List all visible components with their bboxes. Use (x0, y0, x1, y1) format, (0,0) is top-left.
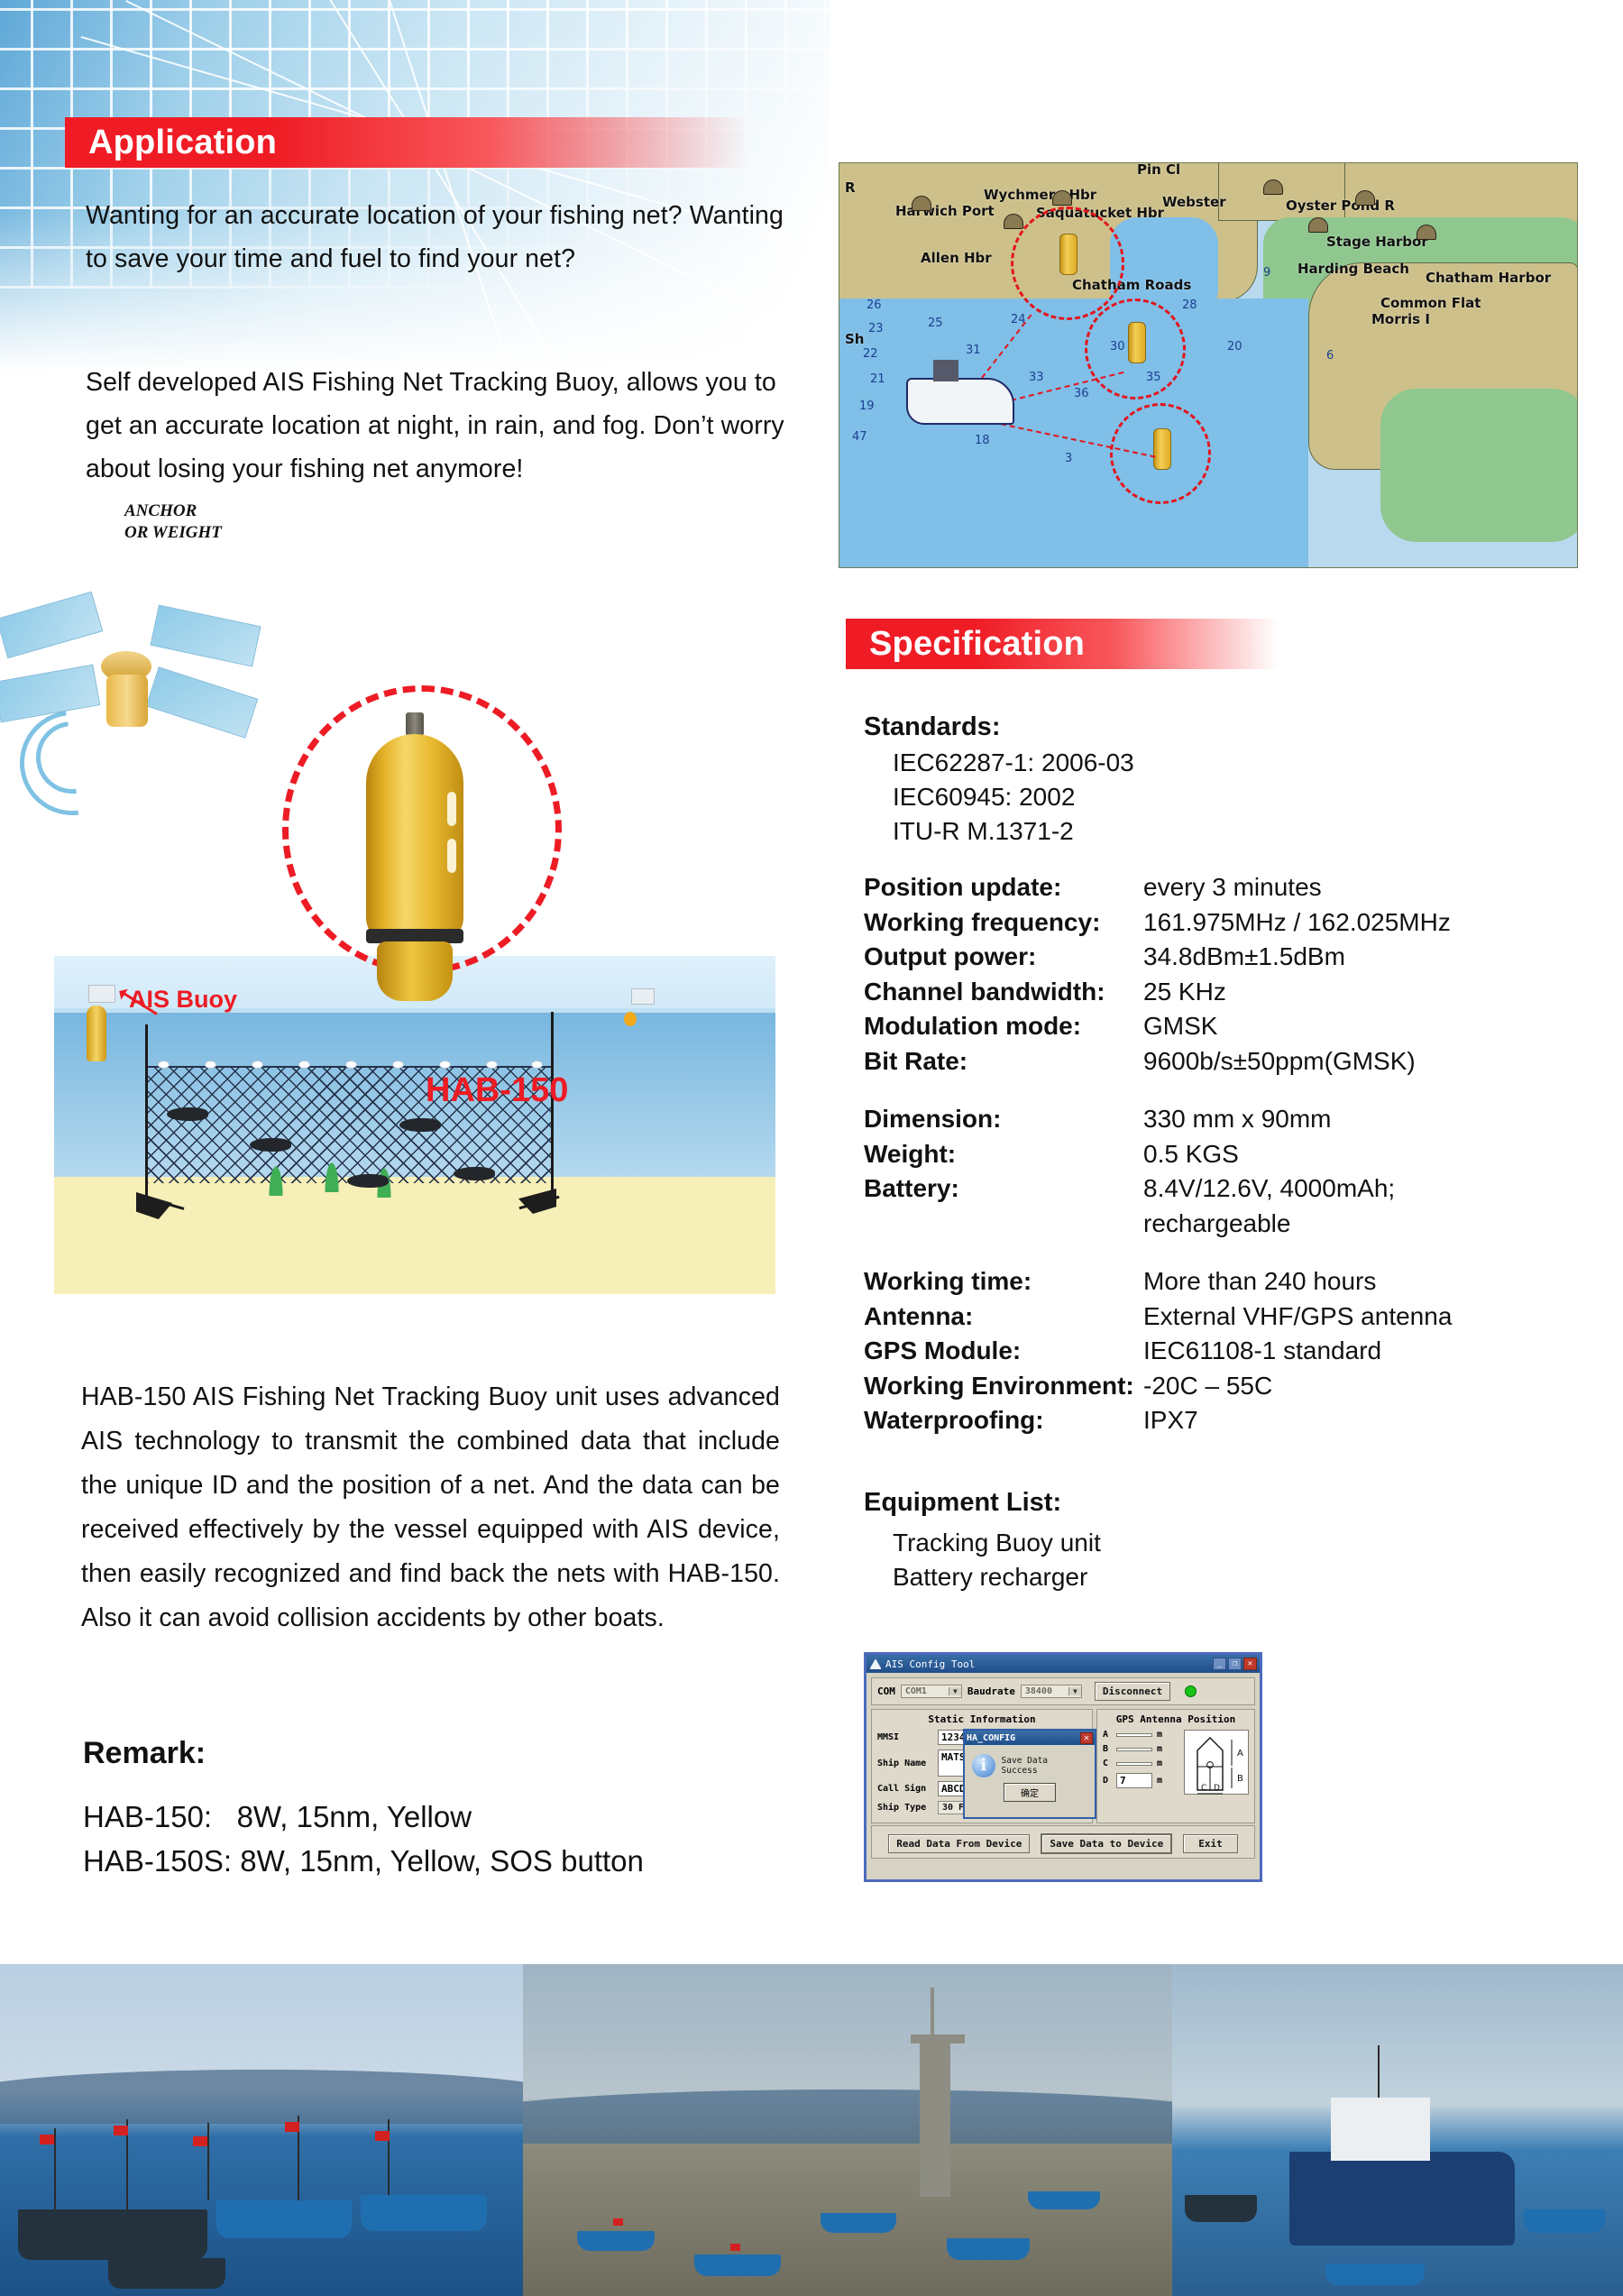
ais-config-tool-window: AIS Config Tool _ ❐ ✕ COM COM1 ▼ Baudrat… (864, 1652, 1262, 1882)
ship-type-label: Ship Type (877, 1803, 933, 1813)
chart-marina-icon (1052, 190, 1072, 206)
specification-heading-text: Specification (846, 625, 1085, 664)
photo-boat (577, 2231, 655, 2251)
close-button[interactable]: ✕ (1243, 1658, 1257, 1670)
antenna-row: A m (1103, 1730, 1178, 1740)
chart-marina-icon (1355, 190, 1375, 206)
spec-row: Battery:8.4V/12.6V, 4000mAh; (864, 1171, 1594, 1207)
save-success-dialog: HA_CONFIG ✕ i Save Data Success 确定 (963, 1729, 1096, 1819)
spec-row: Working Environment:-20C – 55C (864, 1369, 1594, 1404)
vessel-outline-icon: A B C D (1185, 1731, 1250, 1795)
action-button-bar: Read Data From Device Save Data to Devic… (871, 1825, 1255, 1859)
photo-mast (207, 2123, 209, 2200)
spec-key: Battery: (864, 1171, 1143, 1207)
photo-hills (0, 2070, 523, 2124)
spec-row: Weight:0.5 KGS (864, 1137, 1594, 1172)
window-title: AIS Config Tool (885, 1658, 1209, 1670)
net-float (298, 1061, 310, 1069)
chart-sounding: 22 (863, 347, 878, 361)
chart-sounding: 20 (1227, 340, 1242, 354)
chart-sounding: 28 (1182, 298, 1197, 312)
unit-label: m (1157, 1730, 1162, 1740)
baudrate-label: Baudrate (967, 1685, 1015, 1697)
spec-spacer (864, 1241, 1594, 1264)
unit-label: m (1157, 1776, 1162, 1786)
seaweed (264, 1145, 288, 1196)
spec-key: Waterproofing: (864, 1403, 1143, 1438)
buoy-shell (366, 734, 463, 941)
photo-boat (1524, 2209, 1605, 2233)
fish (347, 1174, 389, 1188)
ship-name-label: Ship Name (877, 1759, 933, 1768)
save-data-button[interactable]: Save Data to Device (1041, 1833, 1172, 1854)
exit-button[interactable]: Exit (1183, 1834, 1238, 1853)
spec-key: Antenna: (864, 1300, 1143, 1335)
minimize-button[interactable]: _ (1213, 1658, 1226, 1670)
equipment-list-title: Equipment List: (864, 1488, 1061, 1518)
chart-sounding: 18 (975, 434, 990, 447)
buoy-flag (631, 988, 655, 1005)
chart-water-area (839, 298, 1308, 568)
spec-key: Working Environment: (864, 1369, 1143, 1404)
remark-lines: HAB-150: 8W, 15nm, Yellow HAB-150S: 8W, … (83, 1795, 644, 1883)
specification-table: Position update:every 3 minutes Working … (864, 870, 1594, 1438)
anchor-caption: ANCHOROR WEIGHT (124, 501, 222, 544)
antenna-c-input[interactable] (1116, 1762, 1152, 1766)
com-port-value: COM1 (902, 1685, 949, 1697)
chart-sounding: 26 (867, 298, 882, 312)
anchor-caption-line2: OR WEIGHT (124, 523, 222, 542)
antenna-row: C m (1103, 1759, 1178, 1768)
satellite-solar-panel (0, 592, 103, 659)
photo-mast (1378, 2045, 1380, 2098)
photo-strip (0, 1964, 1623, 2296)
window-controls: _ ❐ ✕ (1213, 1658, 1257, 1670)
ais-buoy-label: AIS Buoy (129, 986, 237, 1014)
photo-boat (947, 2238, 1030, 2260)
spec-value: -20C – 55C (1143, 1369, 1594, 1404)
spec-row: Working frequency:161.975MHz / 162.025MH… (864, 905, 1594, 941)
photo-boat (108, 2258, 225, 2289)
chart-label: Morris I (1371, 311, 1430, 327)
chart-label: Common Flat (1380, 295, 1481, 311)
seaweed (372, 1147, 396, 1198)
photo-fishing-fleet-harbor (0, 1964, 523, 2296)
ais-buoy-small (87, 1006, 106, 1061)
app-logo-icon (869, 1658, 882, 1670)
chart-buoy-marker (1059, 234, 1077, 275)
mmsi-label: MMSI (877, 1732, 933, 1742)
product-description: HAB-150 AIS Fishing Net Tracking Buoy un… (81, 1375, 780, 1640)
spec-key: Working time: (864, 1264, 1143, 1300)
chart-label: Pin Cl (1137, 162, 1180, 178)
chart-label: Allen Hbr (921, 250, 992, 266)
spec-spacer (864, 1079, 1594, 1102)
chart-marina-icon (1263, 179, 1283, 195)
equipment-list: Tracking Buoy unit Battery recharger (893, 1526, 1101, 1594)
photo-flag (40, 2135, 54, 2144)
antenna-position-diagram: A B C D (1184, 1730, 1249, 1795)
unit-label: m (1157, 1759, 1162, 1768)
antenna-d-label: D (1103, 1776, 1112, 1786)
spec-row: Working time:More than 240 hours (864, 1264, 1594, 1300)
spec-key: Dimension: (864, 1102, 1143, 1137)
spec-value: every 3 minutes (1143, 870, 1594, 905)
chart-vessel-funnel (933, 360, 958, 381)
dialog-content: i Save Data Success (965, 1745, 1095, 1781)
fish (399, 1118, 441, 1132)
window-title-bar[interactable]: AIS Config Tool _ ❐ ✕ (867, 1655, 1260, 1673)
chart-label: Chatham Harbor (1426, 270, 1551, 286)
connection-row: COM COM1 ▼ Baudrate 38400 ▼ Disconnect (877, 1682, 1249, 1701)
chart-sounding: 25 (928, 317, 943, 330)
chevron-down-icon: ▼ (1068, 1687, 1081, 1695)
application-heading-text: Application (65, 124, 277, 162)
chart-marina-icon (1417, 225, 1436, 240)
photo-boat (821, 2213, 896, 2233)
spec-value: More than 240 hours (1143, 1264, 1594, 1300)
photo-boat (694, 2255, 781, 2276)
standard-item: IEC60945: 2002 (864, 780, 1594, 814)
anchor-caption-line1: ANCHOR (124, 501, 197, 520)
specification-list: Standards: IEC62287-1: 2006-03 IEC60945:… (864, 712, 1594, 1438)
baudrate-value: 38400 (1022, 1685, 1068, 1697)
net-float (252, 1061, 263, 1069)
chart-sounding: 31 (966, 344, 981, 357)
svg-text:C: C (1201, 1784, 1206, 1793)
hab-150-model-label: HAB-150 (426, 1071, 568, 1110)
specification-section-header: Specification (846, 619, 1279, 669)
spec-row: Output power:34.8dBm±1.5dBm (864, 940, 1594, 975)
net-float (531, 1061, 543, 1069)
maximize-button[interactable]: ❐ (1228, 1658, 1242, 1670)
chart-buoy-marker (1128, 322, 1146, 363)
baudrate-select[interactable]: 38400 ▼ (1021, 1685, 1082, 1698)
dialog-message: Save Data Success (1002, 1756, 1087, 1776)
photo-flag (285, 2122, 299, 2132)
chart-shoal (1380, 389, 1578, 542)
chart-label: Harding Beach (1297, 261, 1409, 277)
nautical-chart-image: R Harwich Port Wychmere Hbr Saquatucket … (839, 162, 1578, 568)
buoy-mount-slot (447, 792, 456, 826)
chevron-down-icon: ▼ (949, 1687, 961, 1695)
spec-key (864, 1207, 1143, 1242)
gps-antenna-position-group: GPS Antenna Position A m B m (1096, 1709, 1255, 1823)
equipment-item: Battery recharger (893, 1560, 1101, 1594)
net-float (486, 1061, 498, 1069)
antenna-d-input[interactable]: 7 (1116, 1773, 1152, 1788)
spec-row: Channel bandwidth:25 KHz (864, 975, 1594, 1010)
photo-hills (523, 2089, 1172, 2144)
antenna-b-input[interactable] (1116, 1748, 1152, 1751)
chart-marina-icon (912, 196, 931, 211)
photo-boat (216, 2200, 352, 2238)
svg-text:D: D (1214, 1784, 1220, 1793)
call-sign-label: Call Sign (877, 1784, 933, 1794)
net-rope (145, 1024, 148, 1205)
equipment-item: Tracking Buoy unit (893, 1526, 1101, 1560)
application-paragraph-1: Wanting for an accurate location of your… (86, 194, 798, 280)
antenna-row: D 7 m (1103, 1773, 1178, 1788)
ais-buoy-small (624, 1012, 637, 1026)
photo-offshore-construction (523, 1964, 1172, 2296)
chart-vessel-icon (906, 378, 1014, 425)
chart-label: Oyster Pond R (1286, 197, 1395, 214)
chart-sounding: 36 (1074, 387, 1089, 400)
photo-boat (1185, 2195, 1257, 2222)
spec-value: GMSK (1143, 1009, 1594, 1044)
standard-item: ITU-R M.1371-2 (864, 814, 1594, 849)
spec-value: rechargeable (1143, 1207, 1594, 1242)
chart-sounding: 9 (1263, 266, 1270, 280)
photo-cargo-vessel (1172, 1964, 1623, 2296)
spec-row: rechargeable (864, 1207, 1594, 1242)
application-paragraph-2: Self developed AIS Fishing Net Tracking … (86, 361, 798, 491)
hab-150-buoy-product (361, 712, 469, 1001)
spec-row: Position update:every 3 minutes (864, 870, 1594, 905)
photo-flag (613, 2218, 623, 2226)
chart-label: Stage Harbor (1326, 234, 1428, 250)
spec-value: 161.975MHz / 162.025MHz (1143, 905, 1594, 941)
static-information-title: Static Information (877, 1713, 1087, 1725)
gps-antenna-title: GPS Antenna Position (1103, 1713, 1249, 1725)
chart-label: R (845, 179, 856, 196)
connection-status-led (1185, 1685, 1197, 1697)
seaweed (320, 1142, 344, 1192)
antenna-a-input[interactable] (1116, 1733, 1152, 1737)
scene-seabed (54, 1177, 775, 1294)
antenna-a-label: A (1103, 1730, 1112, 1740)
spec-row: Waterproofing:IPX7 (864, 1403, 1594, 1438)
com-label: COM (877, 1685, 895, 1697)
chart-sounding: 47 (852, 430, 867, 444)
chart-label: Wychmere Hbr (984, 187, 1096, 203)
fish (167, 1107, 208, 1121)
photo-flag (375, 2131, 390, 2141)
spec-row: Bit Rate:9600b/s±50ppm(GMSK) (864, 1044, 1594, 1079)
net-float (205, 1061, 216, 1069)
spec-value: 9600b/s±50ppm(GMSK) (1143, 1044, 1594, 1079)
spec-value: External VHF/GPS antenna (1143, 1300, 1594, 1335)
chart-sounding: 19 (859, 400, 875, 413)
spec-row: Modulation mode:GMSK (864, 1009, 1594, 1044)
spec-key: Modulation mode: (864, 1009, 1143, 1044)
photo-flag (193, 2136, 207, 2146)
spec-value: 0.5 KGS (1143, 1137, 1594, 1172)
photo-crane-mast (931, 1988, 934, 2034)
spec-key: Channel bandwidth: (864, 975, 1143, 1010)
chart-marina-icon (1004, 214, 1023, 229)
chart-sounding: 21 (870, 372, 885, 386)
chart-sounding: 33 (1029, 371, 1044, 384)
spec-value: 330 mm x 90mm (1143, 1102, 1594, 1137)
dialog-title: HA_CONFIG (967, 1733, 1015, 1743)
photo-boat (18, 2209, 207, 2260)
chart-marina-icon (1308, 217, 1328, 233)
photo-crane-tower (920, 2034, 950, 2197)
unit-label: m (1157, 1744, 1162, 1754)
chart-sounding: 3 (1065, 452, 1072, 465)
remark-title: Remark: (83, 1736, 206, 1771)
svg-text:A: A (1237, 1749, 1243, 1759)
dialog-close-button[interactable]: ✕ (1080, 1732, 1093, 1744)
antenna-row: B m (1103, 1744, 1178, 1754)
photo-boat (361, 2195, 487, 2231)
spec-value: IPX7 (1143, 1403, 1594, 1438)
spec-key: GPS Module: (864, 1334, 1143, 1369)
photo-ship-superstructure (1331, 2098, 1430, 2161)
com-port-select[interactable]: COM1 ▼ (901, 1685, 962, 1698)
chart-label: Harwich Port (895, 203, 995, 219)
standard-item: IEC62287-1: 2006-03 (864, 746, 1594, 780)
read-data-button[interactable]: Read Data From Device (888, 1834, 1030, 1853)
net-float (439, 1061, 451, 1069)
chart-buoy-marker (1153, 428, 1171, 470)
net-float (345, 1061, 357, 1069)
photo-boat (1325, 2264, 1425, 2285)
net-float (158, 1061, 170, 1069)
photo-cargo-ship (1289, 2152, 1515, 2245)
spec-row: Dimension:330 mm x 90mm (864, 1102, 1594, 1137)
dialog-ok-button[interactable]: 确定 (1004, 1783, 1056, 1802)
spec-key: Output power: (864, 940, 1143, 975)
spec-row: Antenna:External VHF/GPS antenna (864, 1300, 1594, 1335)
standards-title: Standards: (864, 712, 1594, 742)
action-buttons: Read Data From Device Save Data to Devic… (877, 1830, 1249, 1854)
spec-row: GPS Module:IEC61108-1 standard (864, 1334, 1594, 1369)
spec-value: 25 KHz (1143, 975, 1594, 1010)
chart-sounding: 6 (1326, 349, 1334, 363)
spec-value: 8.4V/12.6V, 4000mAh; (1143, 1171, 1594, 1207)
photo-flag (114, 2126, 128, 2135)
photo-boat (1028, 2191, 1100, 2209)
info-icon: i (972, 1754, 995, 1777)
fish (250, 1138, 291, 1152)
buoy-mount-slot (447, 839, 456, 873)
dialog-button-row: 确定 (965, 1783, 1095, 1802)
buoy-antenna-cap (406, 712, 424, 736)
photo-flag (730, 2244, 740, 2251)
photo-crane-arm (911, 2034, 965, 2043)
net-float (392, 1061, 404, 1069)
fish (454, 1167, 495, 1180)
disconnect-button[interactable]: Disconnect (1095, 1682, 1170, 1701)
spec-key: Bit Rate: (864, 1044, 1143, 1079)
spec-key: Position update: (864, 870, 1143, 905)
photo-mast (54, 2128, 56, 2209)
spec-key: Weight: (864, 1137, 1143, 1172)
chart-label: Sh (845, 331, 864, 347)
buoy-base (377, 941, 453, 1001)
svg-text:B: B (1237, 1774, 1243, 1784)
satellite-solar-panel (150, 604, 261, 666)
spec-key: Working frequency: (864, 905, 1143, 941)
spec-value: 34.8dBm±1.5dBm (1143, 940, 1594, 975)
application-section-header: Application (65, 117, 750, 168)
antenna-c-label: C (1103, 1759, 1112, 1768)
spec-value: IEC61108-1 standard (1143, 1334, 1594, 1369)
chart-sounding: 23 (868, 322, 884, 335)
chart-label: Webster (1162, 194, 1226, 210)
dialog-title-bar[interactable]: HA_CONFIG ✕ (965, 1731, 1095, 1745)
connection-bar: COM COM1 ▼ Baudrate 38400 ▼ Disconnect (871, 1677, 1255, 1705)
antenna-b-label: B (1103, 1744, 1112, 1754)
